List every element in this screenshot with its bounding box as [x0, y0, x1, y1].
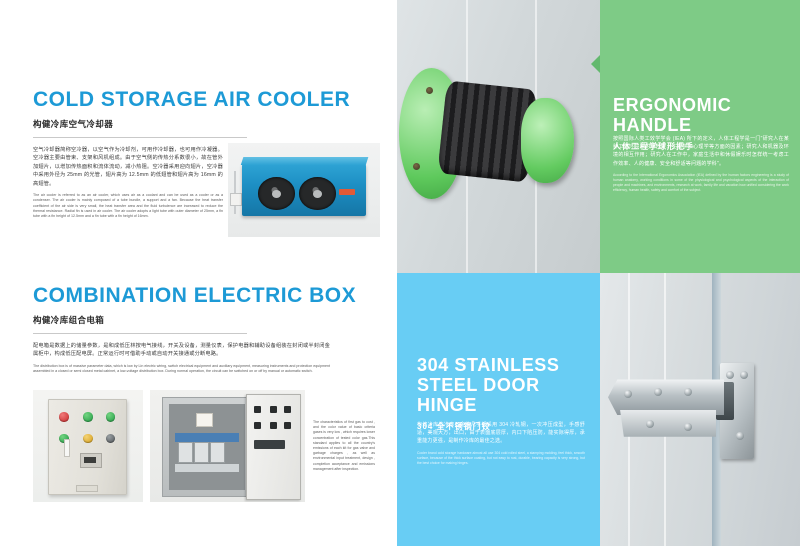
ergonomic-handle-photo: green cold room door handle with black b… — [397, 0, 600, 273]
section-title: COMBINATION ELECTRIC BOX — [33, 284, 356, 308]
door-switch-2 — [270, 406, 277, 413]
brochure-spread: COLD STORAGE AIR COOLER 构健冷库空气冷却器 空气冷却器简… — [0, 0, 800, 546]
cooler-body — [242, 164, 367, 217]
panel-body-cn: 构健冷库的冷库五金件几乎都采用 304 冷轧钢，一次冲压成型，手感舒适，美观大方… — [417, 421, 585, 446]
indicator-lamp-yellow — [83, 434, 92, 443]
contactor-3 — [210, 442, 225, 463]
contactor-2 — [194, 442, 209, 463]
door-switch-6 — [284, 422, 291, 429]
arm-screw-2 — [654, 388, 662, 396]
electric-box-open-photo: open electric box showing internal wirin… — [150, 390, 305, 502]
cabinet-base-plate — [76, 485, 98, 492]
mounting-rail — [175, 433, 239, 442]
panel-title-line1: 304 STAINLESS — [417, 355, 589, 375]
arm-screw-3 — [684, 388, 692, 396]
digital-meter — [80, 453, 102, 468]
indicator-lamp-green-2 — [106, 412, 115, 421]
selector-switch-knob — [106, 434, 115, 443]
page-title: COLD STORAGE AIR COOLER — [33, 88, 350, 112]
cooler-junction-box — [230, 193, 243, 206]
panel-stainless-door-hinge: 304 STAINLESS STEEL DOOR HINGE 304 全不锈钢门… — [397, 273, 600, 546]
cooler-fan-2 — [299, 177, 336, 210]
enclosure-interior — [169, 404, 245, 491]
left-pointing-triangle-icon — [591, 55, 600, 73]
door-switch-3 — [284, 406, 291, 413]
door-switch-1 — [254, 406, 261, 413]
electric-box-closed-photo: closed combination electric box with ind… — [33, 390, 143, 502]
section-subtitle-cn: 构健冷库组合电箱 — [33, 314, 356, 326]
door-switch-5 — [270, 422, 277, 429]
hinge-screw-3 — [736, 432, 744, 440]
handle-end-cap — [521, 98, 574, 183]
divider — [33, 137, 247, 138]
left-page: COLD STORAGE AIR COOLER 构健冷库空气冷却器 空气冷却器简… — [0, 0, 397, 546]
panel-title: ERGONOMIC HANDLE — [613, 95, 789, 135]
wiring-label — [196, 413, 213, 427]
electric-box-side-note: The characteristics of first gas to cost… — [313, 420, 375, 472]
cooler-fan-1 — [258, 177, 295, 210]
panel-body-cn: 按照国际人类工效学学会 (IEA) 所下的定义，人体工程学是一门"研究人在某种工… — [613, 135, 789, 168]
indicator-lamp-red — [59, 412, 68, 421]
hinge-screw-2 — [740, 371, 748, 379]
door-terminal-strip — [254, 440, 285, 449]
divider — [33, 333, 247, 334]
section-body-en: The distribution box is of massive param… — [33, 364, 330, 375]
panel-body-en: According to the International Ergonomic… — [613, 173, 789, 193]
right-page: green cold room door handle with black b… — [397, 0, 800, 546]
terminal-block — [175, 464, 239, 472]
indicator-lamp-green-1 — [83, 412, 92, 421]
contactor-1 — [178, 442, 193, 463]
door-switch-4 — [254, 422, 261, 429]
section-body-cn: 空气冷却器简称空冷器，以空气作为冷却剂，可用作冷却器，也可用作冷凝器。空冷器主要… — [33, 146, 223, 188]
panel-body-en: Cooler brand cold storage hardware almos… — [417, 451, 585, 466]
handle-screw-bottom — [413, 163, 420, 170]
enclosure-door — [246, 394, 301, 499]
electric-box-enclosure — [162, 397, 251, 498]
handle-screw-top — [426, 87, 433, 94]
panel-ergonomic-handle: ERGONOMIC HANDLE 人体工程学球形把手 按照国际人类工效学学会 (… — [600, 0, 800, 273]
section-body-cn: 配电箱是数据上的储量参数，是和成低压林按电气接线，开关及设备，测量仪表，保护电器… — [33, 342, 330, 359]
panel-title-line2: STEEL DOOR HINGE — [417, 375, 589, 415]
section-body-en: The air cooler is referred to as an air … — [33, 193, 223, 219]
hinge-screw-1 — [726, 371, 734, 379]
hinge-arm-lower — [620, 410, 716, 437]
stainless-steel-door-hinge-photo: 304 stainless steel cold room door hinge… — [600, 273, 800, 546]
section-subtitle-cn: 构健冷库空气冷却器 — [33, 118, 350, 130]
section-combination-electric-box: COMBINATION ELECTRIC BOX 构健冷库组合电箱 配电箱是数据… — [33, 284, 356, 374]
cooler-label-badge — [339, 189, 355, 195]
air-cooler-photo: blue cold storage air cooler with two fa… — [228, 143, 380, 237]
electric-box-cabinet — [48, 399, 127, 495]
cabinet-latch — [64, 439, 70, 456]
